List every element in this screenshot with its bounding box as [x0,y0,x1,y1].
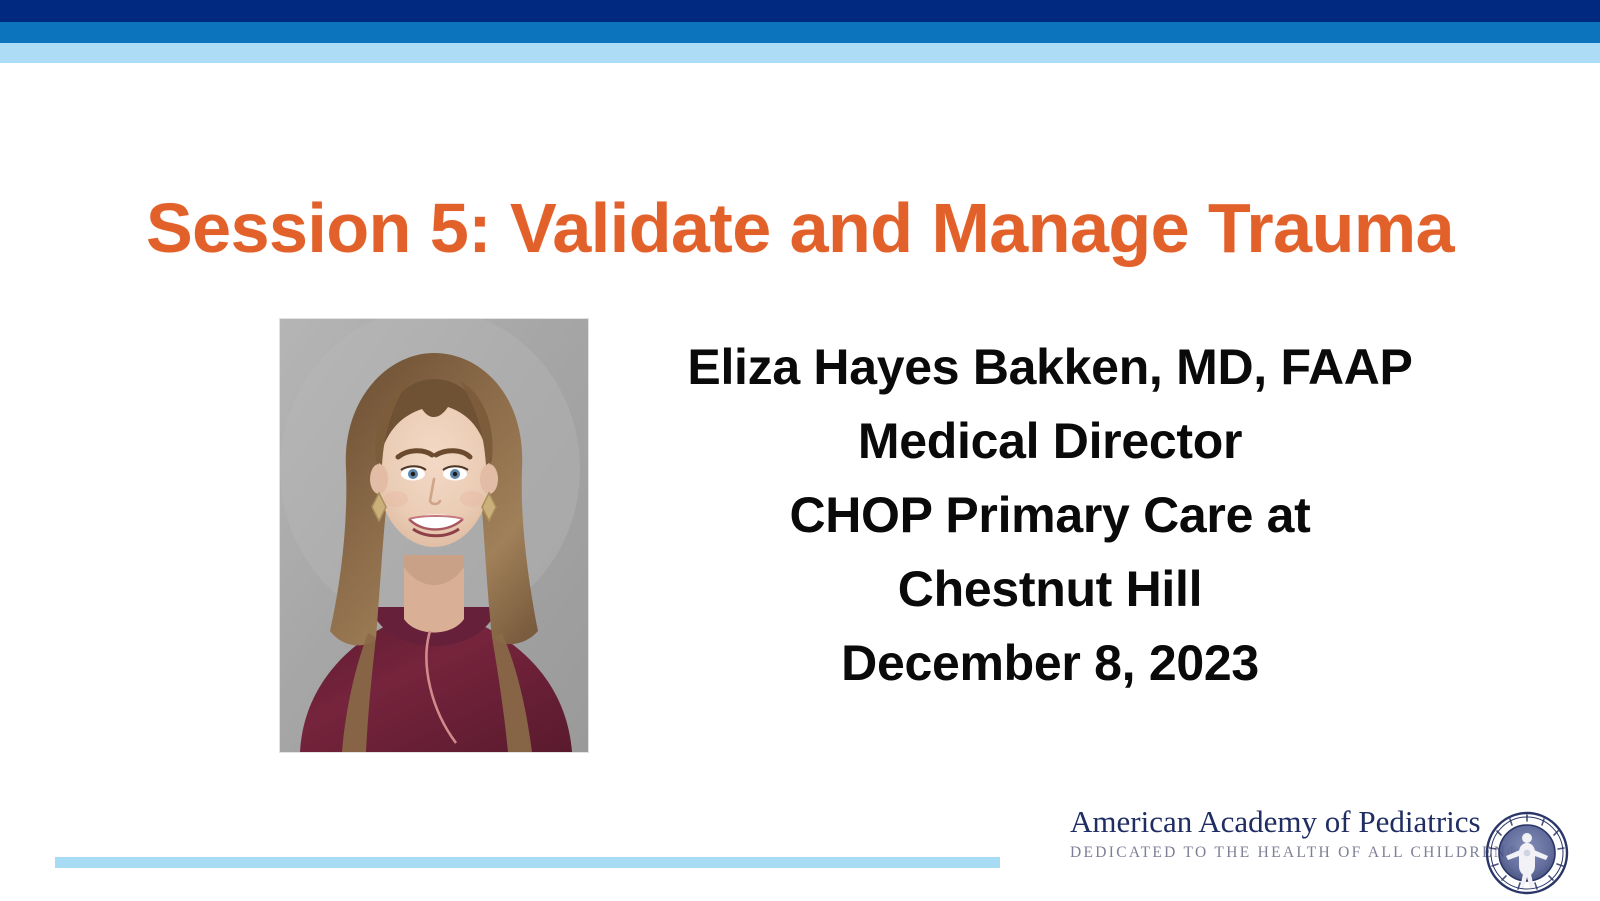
speaker-name: Eliza Hayes Bakken, MD, FAAP [640,330,1460,404]
speaker-portrait-photo [280,319,588,752]
top-band-blue [0,22,1600,43]
speaker-role: Medical Director [640,404,1460,478]
top-band-light-blue [0,43,1600,63]
portrait-illustration [280,319,588,752]
aap-logo: American Academy of Pediatrics DEDICATED… [1070,800,1590,890]
speaker-organization-line-2: Chestnut Hill [640,552,1460,626]
aap-logo-name: American Academy of Pediatrics [1070,804,1450,840]
speaker-info-block: Eliza Hayes Bakken, MD, FAAP Medical Dir… [640,330,1460,700]
aap-seal-icon [1484,810,1570,896]
slide-title: Session 5: Validate and Manage Trauma [0,188,1600,268]
aap-logo-tagline: DEDICATED TO THE HEALTH OF ALL CHILDREN® [1070,844,1450,862]
footer-divider-rule [55,857,1000,868]
presentation-date: December 8, 2023 [640,626,1460,700]
top-band-navy [0,0,1600,22]
speaker-organization-line-1: CHOP Primary Care at [640,478,1460,552]
